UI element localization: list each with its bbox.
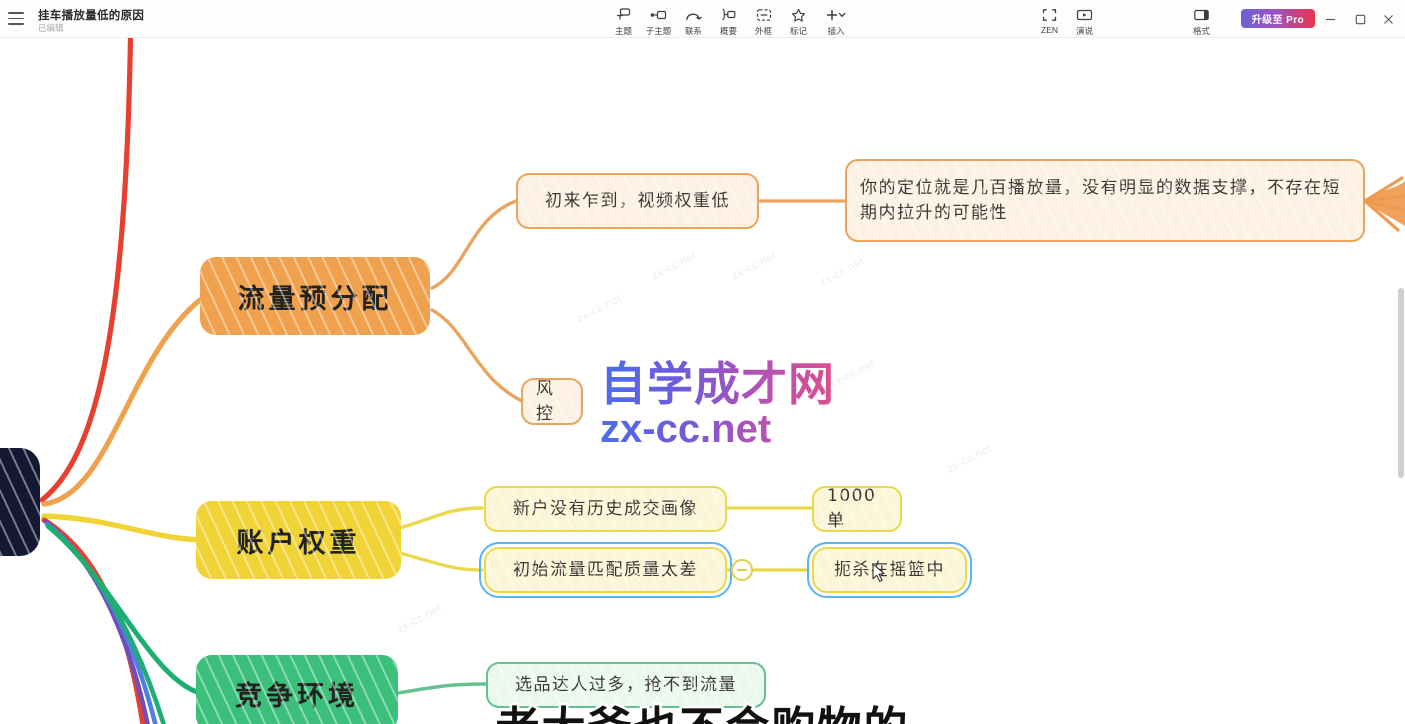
toolbar-zen-group: ZEN 演说 xyxy=(1032,4,1102,37)
toolbar-left-group: 主题 子主题 联系 概要 外框 xyxy=(606,4,856,37)
window-maximize-button[interactable] xyxy=(1345,0,1375,38)
toolbar-subtopic-button[interactable]: 子主题 xyxy=(641,4,676,37)
vertical-scrollbar-thumb[interactable] xyxy=(1398,288,1404,478)
document-title[interactable]: 挂车播放量低的原因 xyxy=(38,7,144,23)
window-close-button[interactable] xyxy=(1373,0,1403,38)
main-node-competition[interactable]: 竞争环境 xyxy=(196,655,398,724)
main-node-account[interactable]: 账户权重 xyxy=(196,501,401,579)
plus-insert-icon xyxy=(825,7,847,22)
toolbar-format-label: 格式 xyxy=(1193,25,1210,37)
format-panel-icon xyxy=(1193,7,1210,22)
toolbar-topic-label: 主题 xyxy=(615,25,632,37)
mindmap-canvas[interactable]: zx-cc.net zx-cc.net zx-cc.net zx-cc.net … xyxy=(0,38,1405,724)
child-node-competition-1[interactable]: 选品达人过多，抢不到流量 xyxy=(486,662,766,708)
toolbar-summary-button[interactable]: 概要 xyxy=(711,4,746,37)
zen-fullscreen-icon xyxy=(1042,7,1057,22)
toolbar-relation-button[interactable]: 联系 xyxy=(676,4,711,37)
toolbar-relation-label: 联系 xyxy=(685,25,702,37)
toolbar-presentation-label: 演说 xyxy=(1076,25,1093,37)
toolbar-insert-button[interactable]: 插入 xyxy=(816,4,856,37)
vertical-scrollbar[interactable] xyxy=(1397,38,1405,724)
subtopic-icon xyxy=(650,7,667,22)
toolbar-presentation-button[interactable]: 演说 xyxy=(1067,4,1102,37)
toolbar-format-button[interactable]: 格式 xyxy=(1184,4,1219,37)
toolbar-format-group: 格式 xyxy=(1184,4,1219,37)
topic-icon xyxy=(616,7,631,22)
toolbar-boundary-label: 外框 xyxy=(755,25,772,37)
toolbar-zen-button[interactable]: ZEN xyxy=(1032,4,1067,37)
grandchild-node-account-1[interactable]: 1000单 xyxy=(812,486,902,532)
presentation-icon xyxy=(1076,7,1093,22)
child-node-account-2[interactable]: 初始流量匹配质量太差 xyxy=(484,547,727,593)
star-marker-icon xyxy=(791,7,806,22)
hamburger-menu-icon[interactable] xyxy=(8,12,24,26)
upgrade-to-pro-button[interactable]: 升级至 Pro xyxy=(1241,9,1315,28)
window-minimize-button[interactable] xyxy=(1315,0,1345,38)
toolbar-boundary-button[interactable]: 外框 xyxy=(746,4,781,37)
toolbar-topic-button[interactable]: 主题 xyxy=(606,4,641,37)
root-node[interactable] xyxy=(0,448,40,556)
collapse-toggle[interactable] xyxy=(731,559,753,581)
child-node-flow-2[interactable]: 风控 xyxy=(521,378,583,425)
document-save-status: 已编辑 xyxy=(38,22,64,34)
toolbar-marker-button[interactable]: 标记 xyxy=(781,4,816,37)
grandchild-node-flow-1[interactable]: 你的定位就是几百播放量，没有明显的数据支撑，不存在短期内拉升的可能性 xyxy=(845,159,1365,242)
relation-arc-icon xyxy=(685,7,702,22)
toolbar-insert-label: 插入 xyxy=(827,25,844,37)
main-node-flow[interactable]: 流量预分配 xyxy=(200,257,430,335)
branch-connectors xyxy=(0,38,1405,724)
toolbar-marker-label: 标记 xyxy=(790,25,807,37)
toolbar-zen-label: ZEN xyxy=(1041,25,1058,35)
child-node-account-1[interactable]: 新户没有历史成交画像 xyxy=(484,486,727,532)
child-node-flow-1[interactable]: 初来乍到，视频权重低 xyxy=(516,173,759,229)
boundary-frame-icon xyxy=(756,7,772,22)
minus-icon xyxy=(737,569,747,571)
summary-bracket-icon xyxy=(720,7,737,22)
title-bar: 挂车播放量低的原因 已编辑 主题 子主题 联系 概要 xyxy=(0,0,1405,38)
toolbar-subtopic-label: 子主题 xyxy=(646,25,672,37)
toolbar-summary-label: 概要 xyxy=(720,25,737,37)
grandchild-node-account-2[interactable]: 扼杀在摇篮中 xyxy=(812,547,967,593)
